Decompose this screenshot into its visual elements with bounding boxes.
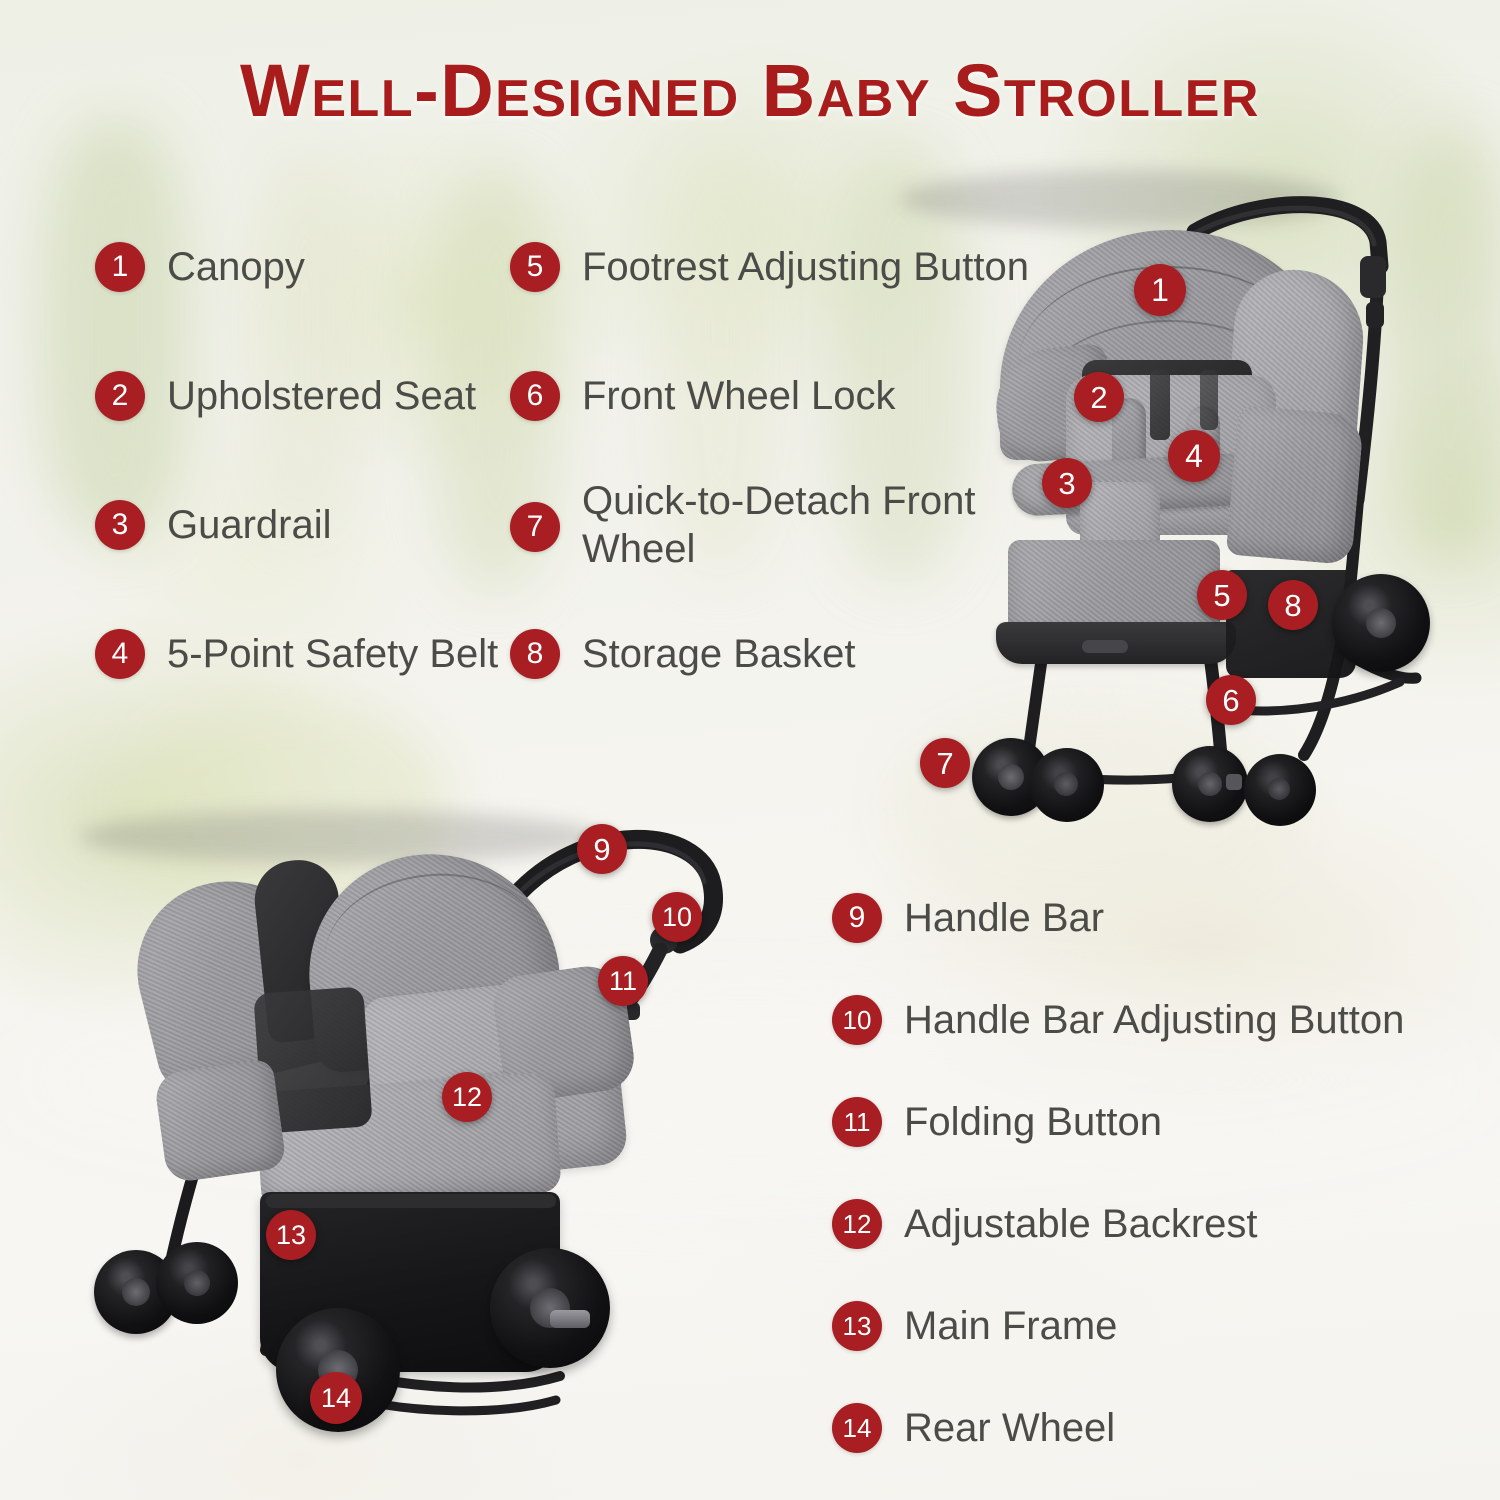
page-title: Well-Designed Baby Stroller <box>0 52 1500 130</box>
legend-item-12[interactable]: 12 Adjustable Backrest <box>832 1199 1258 1249</box>
legend-badge: 12 <box>832 1199 882 1249</box>
legend-badge: 3 <box>95 500 145 550</box>
callout-badge-7[interactable]: 7 <box>920 738 970 788</box>
legend-item-label: Main Frame <box>904 1301 1117 1350</box>
legend-item-1[interactable]: 1 Canopy <box>95 242 305 292</box>
legend-item-2[interactable]: 2 Upholstered Seat <box>95 371 476 421</box>
seat-side-wing <box>1226 405 1365 565</box>
front-wheel-hub <box>184 1270 210 1296</box>
background-bokeh <box>40 120 190 540</box>
callout-badge-5[interactable]: 5 <box>1197 570 1247 620</box>
legend-badge: 10 <box>832 995 882 1045</box>
legend-item-3[interactable]: 3 Guardrail <box>95 500 332 550</box>
callout-badge-3[interactable]: 3 <box>1042 458 1092 508</box>
storage-basket-rim <box>266 1194 556 1208</box>
legend-item-label: Folding Button <box>904 1097 1162 1146</box>
front-wheel-hub <box>998 764 1024 790</box>
legend-badge: 6 <box>510 371 560 421</box>
legend-badge: 5 <box>510 242 560 292</box>
legend-badge: 14 <box>832 1403 882 1453</box>
legend-item-label: Handle Bar <box>904 893 1104 942</box>
legend-item-11[interactable]: 11 Folding Button <box>832 1097 1162 1147</box>
callout-badge-6[interactable]: 6 <box>1206 675 1256 725</box>
legend-item-label: Storage Basket <box>582 629 856 678</box>
legend-badge: 8 <box>510 629 560 679</box>
safety-belt-webbing <box>1150 370 1170 440</box>
legend-item-4[interactable]: 4 5-Point Safety Belt <box>95 629 498 679</box>
callout-badge-12[interactable]: 12 <box>442 1072 492 1122</box>
legend-badge: 13 <box>832 1301 882 1351</box>
callout-badge-1[interactable]: 1 <box>1134 264 1186 316</box>
callout-badge-8[interactable]: 8 <box>1268 580 1318 630</box>
background-bokeh <box>250 150 360 530</box>
safety-belt-webbing <box>1200 370 1218 430</box>
legend-badge: 7 <box>510 502 560 552</box>
stroller-front-three-quarter-view: 1 2 3 4 5 6 7 8 <box>900 170 1500 870</box>
legend-badge: 4 <box>95 629 145 679</box>
legend-item-label: Canopy <box>167 242 305 291</box>
legend-item-label: Upholstered Seat <box>167 371 476 420</box>
front-wheel-hub <box>1268 778 1290 800</box>
legend-item-label: Front Wheel Lock <box>582 371 895 420</box>
front-wheel-hub <box>1198 772 1222 796</box>
legend-badge: 2 <box>95 371 145 421</box>
callout-badge-2[interactable]: 2 <box>1074 372 1124 422</box>
legend-item-label: Handle Bar Adjusting Button <box>904 995 1404 1044</box>
legend-badge: 11 <box>832 1097 882 1147</box>
legend-item-label: Rear Wheel <box>904 1403 1115 1452</box>
front-wheel-hub <box>122 1278 150 1306</box>
legend-item-label: Adjustable Backrest <box>904 1199 1258 1248</box>
infographic-page: Well-Designed Baby Stroller 1 Canopy 2 U… <box>0 0 1500 1500</box>
front-wheel-lock[interactable] <box>1226 774 1242 790</box>
callout-badge-4[interactable]: 4 <box>1168 430 1220 482</box>
legend-item-10[interactable]: 10 Handle Bar Adjusting Button <box>832 995 1404 1045</box>
legend-item-6[interactable]: 6 Front Wheel Lock <box>510 371 895 421</box>
legend-item-8[interactable]: 8 Storage Basket <box>510 629 856 679</box>
callout-badge-13[interactable]: 13 <box>266 1210 316 1260</box>
legend-item-9[interactable]: 9 Handle Bar <box>832 893 1104 943</box>
legend-badge: 1 <box>95 242 145 292</box>
callout-badge-14[interactable]: 14 <box>310 1372 362 1424</box>
legend-item-14[interactable]: 14 Rear Wheel <box>832 1403 1115 1453</box>
legend-badge: 9 <box>832 893 882 943</box>
seat-pad <box>153 1058 287 1184</box>
callout-badge-9[interactable]: 9 <box>577 824 627 874</box>
rear-wheel-hub <box>1366 608 1396 638</box>
callout-badge-11[interactable]: 11 <box>598 956 648 1006</box>
legend-item-label: Guardrail <box>167 500 332 549</box>
front-wheel-hub <box>1054 772 1078 796</box>
callout-badge-10[interactable]: 10 <box>652 892 702 942</box>
wheel-release-clip[interactable] <box>550 1310 590 1328</box>
legend-item-13[interactable]: 13 Main Frame <box>832 1301 1117 1351</box>
footrest-adjusting-button[interactable] <box>1082 640 1128 653</box>
stroller-reclined-rear-view: 9 10 11 12 13 14 <box>80 810 760 1470</box>
legend-item-label: 5-Point Safety Belt <box>167 629 498 678</box>
